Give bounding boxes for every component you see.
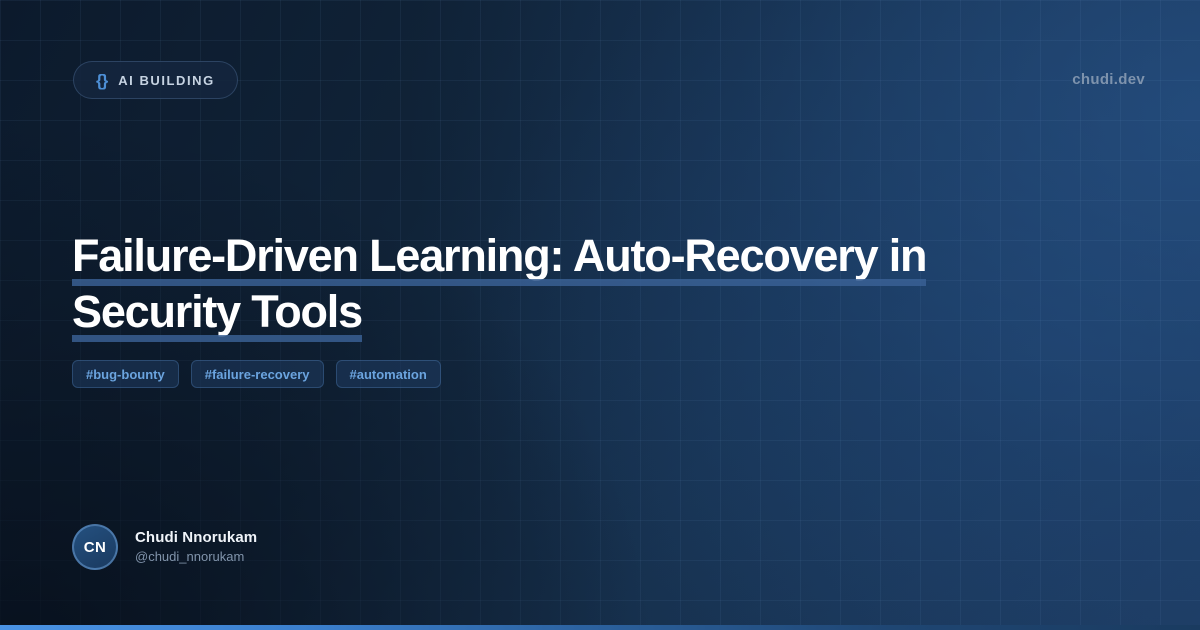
title-line-1: Failure-Driven Learning: Auto-Recovery i… <box>72 232 926 286</box>
author-handle: @chudi_nnorukam <box>135 548 257 565</box>
curly-braces-icon: {} <box>96 72 107 89</box>
site-url: chudi.dev <box>1072 71 1145 88</box>
tag-failure-recovery[interactable]: #failure-recovery <box>191 360 324 388</box>
tag-automation[interactable]: #automation <box>336 360 441 388</box>
badge-label: AI BUILDING <box>118 73 215 88</box>
avatar: CN <box>72 524 118 570</box>
author-name: Chudi Nnorukam <box>135 529 257 547</box>
author-text: Chudi Nnorukam @chudi_nnorukam <box>135 529 257 565</box>
ai-building-badge: {} AI BUILDING <box>73 61 238 99</box>
tag-list: #bug-bounty #failure-recovery #automatio… <box>72 360 441 388</box>
tag-bug-bounty[interactable]: #bug-bounty <box>72 360 179 388</box>
bottom-accent-bar <box>0 625 1200 630</box>
page-title: Failure-Driven Learning: Auto-Recovery i… <box>72 232 972 344</box>
author-block: CN Chudi Nnorukam @chudi_nnorukam <box>72 524 257 570</box>
og-card: {} AI BUILDING chudi.dev Failure-Driven … <box>0 0 1200 630</box>
title-line-2: Security Tools <box>72 288 362 342</box>
